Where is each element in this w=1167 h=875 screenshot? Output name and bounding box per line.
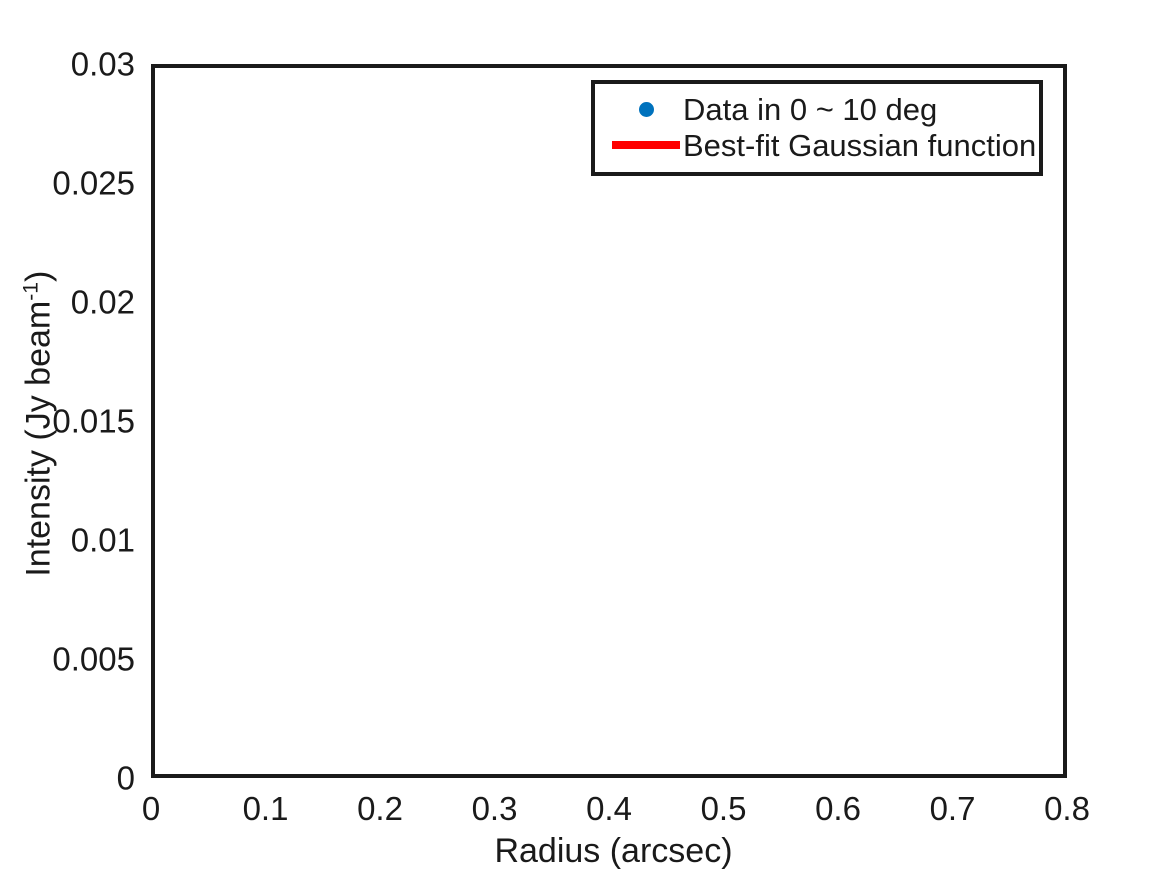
legend-label-fit: Best-fit Gaussian function xyxy=(683,130,1036,161)
figure-container: 00.0050.010.0150.020.0250.03 00.10.20.30… xyxy=(0,0,1167,875)
y-axis-title-tail: ) xyxy=(20,271,58,282)
y-axis-title-exponent: -1 xyxy=(19,282,42,301)
x-tick-label: 0.3 xyxy=(472,792,518,825)
x-tick-label: 0.8 xyxy=(1044,792,1090,825)
legend-marker-line-icon xyxy=(609,141,683,149)
x-tick-label: 0.5 xyxy=(701,792,747,825)
x-tick-label: 0.6 xyxy=(815,792,861,825)
legend-entry-fit[interactable]: Best-fit Gaussian function xyxy=(609,127,1025,163)
x-tick-label: 0.2 xyxy=(357,792,403,825)
legend-marker-dot-icon xyxy=(609,102,683,117)
y-axis-title-base: Intensity (Jy beam xyxy=(20,301,58,577)
legend-entry-data[interactable]: Data in 0 ~ 10 deg xyxy=(609,91,1025,127)
chart-legend[interactable]: Data in 0 ~ 10 deg Best-fit Gaussian fun… xyxy=(591,80,1043,176)
x-tick-label: 0 xyxy=(142,792,160,825)
y-axis-title: Intensity (Jy beam-1) xyxy=(19,67,58,781)
x-axis-title: Radius (arcsec) xyxy=(0,832,1167,871)
x-tick-label: 0.7 xyxy=(930,792,976,825)
x-tick-label: 0.4 xyxy=(586,792,632,825)
x-axis-title-text: Radius (arcsec) xyxy=(494,832,732,871)
legend-label-data: Data in 0 ~ 10 deg xyxy=(683,94,937,125)
x-tick-label: 0.1 xyxy=(243,792,289,825)
